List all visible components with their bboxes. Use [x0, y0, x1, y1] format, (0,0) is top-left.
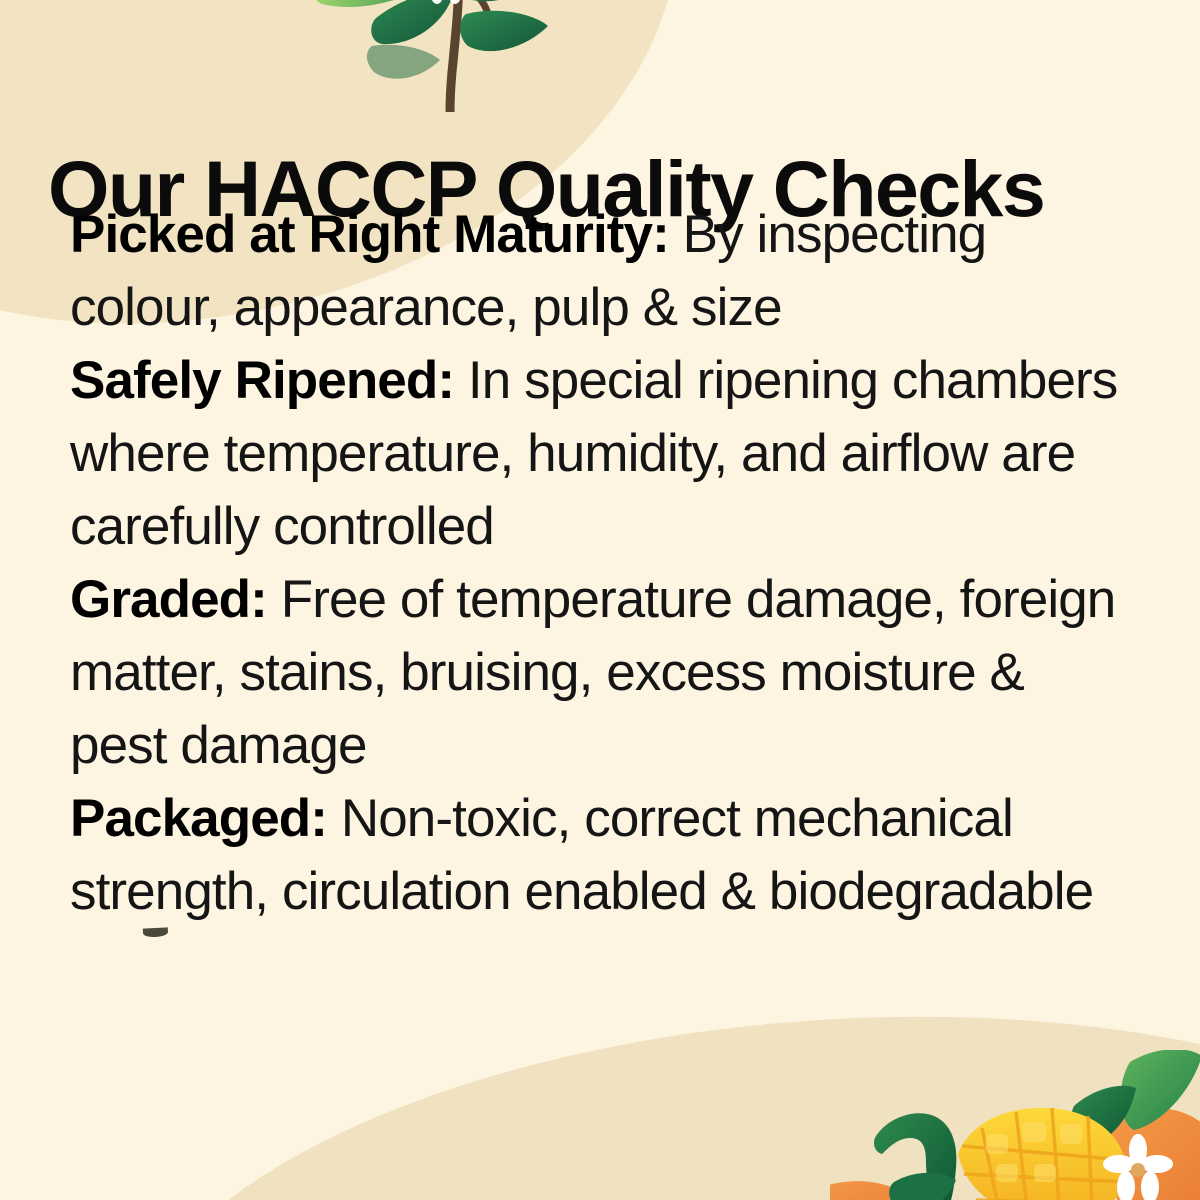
- check-item-graded: Graded: Free of temperature damage, fore…: [70, 563, 1130, 782]
- scan-speck-artifact: [143, 927, 168, 937]
- check-label: Packaged:: [70, 789, 327, 848]
- check-item-picked-at-right-maturity: Picked at Right Maturity: By inspecting …: [70, 198, 1130, 344]
- check-item-safely-ripened: Safely Ripened: In special ripening cham…: [70, 344, 1130, 563]
- leaf-mid-left: [889, 1173, 956, 1200]
- check-label: Graded:: [70, 570, 267, 629]
- quality-checks-list: Picked at Right Maturity: By inspecting …: [70, 198, 1130, 928]
- check-label: Picked at Right Maturity:: [70, 205, 669, 264]
- poster-canvas: Our HACCP Quality Checks Picked at Right…: [0, 0, 1200, 1200]
- check-item-packaged: Packaged: Non-toxic, correct mechanical …: [70, 782, 1130, 928]
- poster-content: Our HACCP Quality Checks Picked at Right…: [0, 0, 1200, 1200]
- cubed-mango-illustration: [830, 1050, 1200, 1200]
- check-label: Safely Ripened:: [70, 351, 454, 410]
